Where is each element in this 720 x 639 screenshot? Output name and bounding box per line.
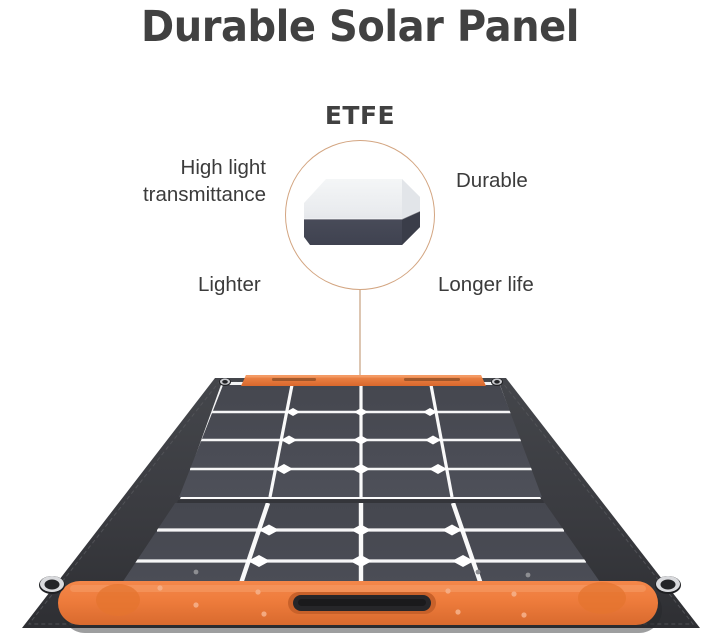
far-corner-grommet-left — [219, 378, 231, 386]
front-handle-bar — [58, 581, 662, 633]
corner-grommet-left — [39, 576, 65, 594]
handle-left-detail — [96, 584, 140, 616]
feature-label-high-light-transmittance: High light transmittance — [46, 154, 266, 208]
solar-panel-illustration — [0, 360, 720, 639]
solar-cells-upper — [179, 385, 542, 497]
etfe-layers-illustration — [286, 141, 435, 290]
feature-label-durable: Durable — [456, 167, 528, 194]
corner-grommet-right — [655, 576, 681, 594]
far-corner-grommet-right — [491, 378, 503, 386]
etfe-callout-title: ETFE — [260, 101, 460, 130]
handle-right-detail — [578, 582, 626, 614]
rear-strip-highlight — [245, 375, 482, 378]
etfe-detail-circle — [285, 140, 435, 290]
feature-label-lighter: Lighter — [198, 271, 261, 298]
infographic-page: Durable Solar Panel ETFE — [0, 0, 720, 639]
feature-label-longer-life: Longer life — [438, 271, 534, 298]
page-title: Durable Solar Panel — [25, 2, 695, 52]
